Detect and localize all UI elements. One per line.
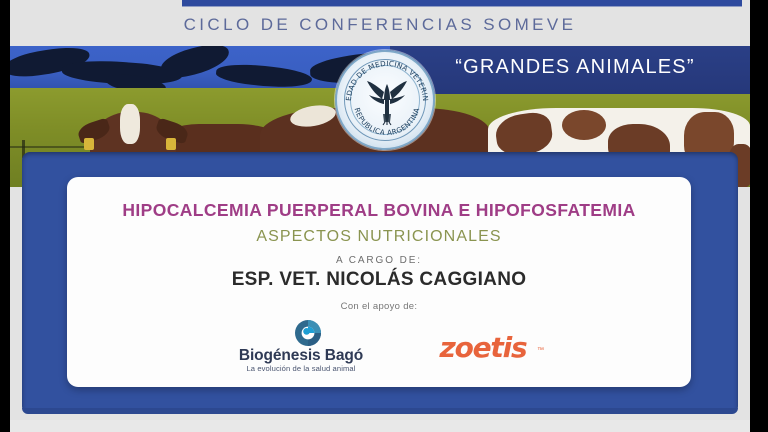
sponsor-name: Biogénesis Bagó [211, 347, 391, 365]
sponsor-zoetis: zoetis ™ [417, 331, 567, 367]
sponsor-row: Biogénesis Bagó La evolución de la salud… [67, 319, 691, 379]
page-title: CICLO DE CONFERENCIAS SOMEVE [10, 15, 750, 35]
support-label: Con el apoyo de: [67, 301, 691, 312]
presenter-name: ESP. VET. NICOLÁS CAGGIANO [67, 269, 691, 291]
frame-base [22, 408, 738, 414]
bottom-gap [10, 420, 750, 432]
slide-stage: CICLO DE CONFERENCIAS SOMEVE [10, 0, 750, 432]
series-title: “GRANDES ANIMALES” [410, 56, 740, 79]
circular-swirl-icon [294, 319, 322, 347]
someve-seal: SOCIEDAD DE MEDICINA VETERINARIA REPUBLI… [335, 50, 435, 150]
presenter-label: A CARGO DE: [67, 255, 691, 266]
sponsor-tagline: La evolución de la salud animal [211, 364, 391, 373]
header-band: CICLO DE CONFERENCIAS SOMEVE [10, 0, 750, 46]
sponsor-biogenesis-bago: Biogénesis Bagó La evolución de la salud… [211, 319, 391, 377]
sponsor-name: zoetis [417, 331, 549, 364]
talk-info-card: HIPOCALCEMIA PUERPERAL BOVINA E HIPOFOSF… [67, 177, 691, 387]
talk-title: HIPOCALCEMIA PUERPERAL BOVINA E HIPOFOSF… [67, 200, 691, 221]
talk-subtitle: ASPECTOS NUTRICIONALES [67, 228, 691, 246]
slide-root: CICLO DE CONFERENCIAS SOMEVE [0, 0, 768, 432]
header-rule [182, 0, 742, 7]
trademark-symbol: ™ [537, 347, 544, 354]
eagle-icon [365, 78, 409, 126]
